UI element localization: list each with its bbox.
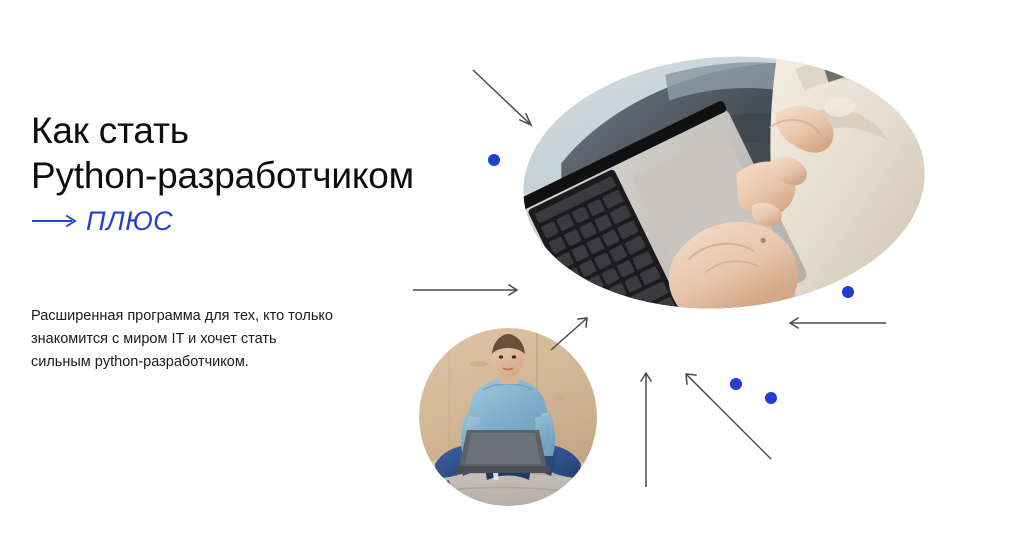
hero-text-block: Как стать Python-разработчиком ПЛЮС [31,108,491,236]
dot-near-title [488,154,500,166]
hands-typing-on-laptop-photo [515,43,934,321]
hero-page: Как стать Python-разработчиком ПЛЮС Расш… [0,0,1020,533]
arrow-up-left-bottom-icon [686,374,771,459]
plus-label: ПЛЮС [86,206,173,236]
hero-description: Расширенная программа для тех, кто тольк… [31,305,426,374]
page-title: Как стать Python-разработчиком [31,108,491,198]
arrow-up-bottom-icon [641,373,651,487]
arrow-right-middle-icon [413,285,517,295]
dot-bottom-right [765,392,777,404]
hands-typing-on-laptop-illustration [515,43,934,321]
dot-bottom-left [730,378,742,390]
man-with-laptop-photo [419,328,597,506]
long-arrow-right-icon [31,213,77,229]
plus-badge[interactable]: ПЛЮС [31,206,491,236]
man-with-laptop-illustration [419,328,597,506]
dot-right-of-ellipse [842,286,854,298]
arrow-left-right-side-icon [790,318,886,328]
